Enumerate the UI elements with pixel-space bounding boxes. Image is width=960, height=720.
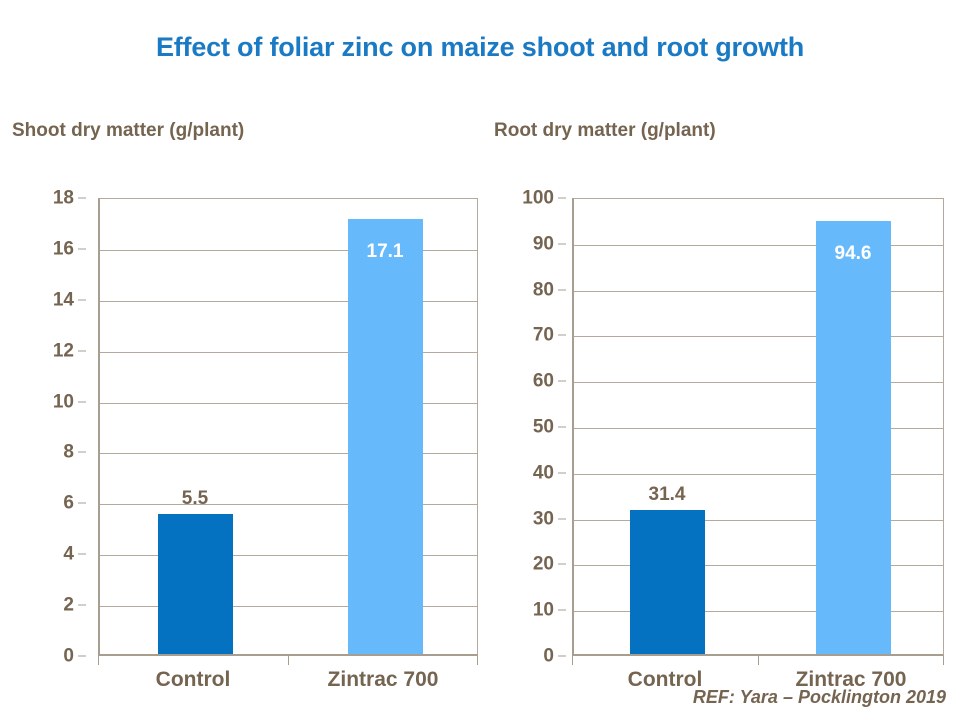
bar-control xyxy=(158,514,233,654)
x-axis-shoot: ControlZintrac 700 xyxy=(98,656,478,700)
y-tick-label: 4 xyxy=(63,545,74,564)
y-tick-mark xyxy=(78,452,86,453)
y-tick-mark xyxy=(558,381,566,382)
y-tick-mark xyxy=(78,198,86,199)
x-category-label: Control xyxy=(156,668,231,692)
y-tick-mark xyxy=(78,248,86,249)
y-tick-mark xyxy=(558,472,566,473)
y-tick-label: 18 xyxy=(53,189,74,208)
y-tick-label: 40 xyxy=(533,463,554,482)
y-tick-label: 0 xyxy=(63,647,74,666)
y-tick-mark xyxy=(78,299,86,300)
y-tick-label: 100 xyxy=(522,189,554,208)
x-tick-mark xyxy=(288,656,289,665)
x-tick-mark xyxy=(98,656,99,665)
x-tick-mark xyxy=(477,656,478,665)
x-category-label: Control xyxy=(628,668,703,692)
x-tick-mark xyxy=(758,656,759,665)
y-tick-label: 60 xyxy=(533,372,554,391)
y-tick-label: 20 xyxy=(533,555,554,574)
x-category-label: Zintrac 700 xyxy=(328,668,439,692)
chart-area-shoot: 181614121086420 5.517.1 ControlZintrac 7… xyxy=(8,148,478,683)
x-tick-mark xyxy=(943,656,944,665)
reference-note: REF: Yara – Pocklington 2019 xyxy=(693,687,946,708)
y-tick-label: 50 xyxy=(533,418,554,437)
y-tick-label: 0 xyxy=(543,647,554,666)
y-tick-mark xyxy=(78,350,86,351)
y-tick-label: 90 xyxy=(533,234,554,253)
y-tick-mark xyxy=(558,289,566,290)
y-tick-mark xyxy=(558,656,566,657)
bar-value-label: 5.5 xyxy=(158,489,233,508)
y-tick-mark xyxy=(558,198,566,199)
y-tick-label: 14 xyxy=(53,290,74,309)
y-tick-mark xyxy=(78,656,86,657)
plot-area-shoot: 5.517.1 xyxy=(98,198,478,656)
plot-area-root: 31.494.6 xyxy=(572,198,944,656)
y-tick-mark xyxy=(78,554,86,555)
y-tick-label: 30 xyxy=(533,509,554,528)
y-tick-mark xyxy=(558,427,566,428)
y-tick-mark xyxy=(558,564,566,565)
y-tick-label: 2 xyxy=(63,596,74,615)
y-tick-mark xyxy=(558,243,566,244)
y-tick-mark xyxy=(78,401,86,402)
y-axis-shoot: 181614121086420 xyxy=(26,198,86,656)
y-tick-label: 6 xyxy=(63,494,74,513)
x-tick-mark xyxy=(572,656,573,665)
y-axis-root: 1009080706050403020100 xyxy=(490,198,566,656)
y-tick-mark xyxy=(78,605,86,606)
chart-panel-root: Root dry matter (g/plant) 10090807060504… xyxy=(490,120,956,683)
bar-zintrac-700 xyxy=(816,221,891,654)
y-tick-mark xyxy=(558,518,566,519)
bar-control xyxy=(630,510,705,654)
chart-panel-shoot: Shoot dry matter (g/plant) 1816141210864… xyxy=(8,120,478,683)
bar-zintrac-700 xyxy=(348,219,423,654)
y-tick-label: 10 xyxy=(533,601,554,620)
y-tick-label: 70 xyxy=(533,326,554,345)
bar-value-label: 17.1 xyxy=(348,242,423,261)
y-tick-mark xyxy=(558,335,566,336)
y-tick-label: 10 xyxy=(53,392,74,411)
y-tick-label: 8 xyxy=(63,443,74,462)
chart-title-shoot: Shoot dry matter (g/plant) xyxy=(12,120,478,142)
y-tick-label: 12 xyxy=(53,341,74,360)
chart-area-root: 1009080706050403020100 31.494.6 ControlZ… xyxy=(490,148,956,683)
y-tick-label: 16 xyxy=(53,239,74,258)
page-title: Effect of foliar zinc on maize shoot and… xyxy=(0,32,960,63)
y-tick-mark xyxy=(78,503,86,504)
y-tick-label: 80 xyxy=(533,280,554,299)
chart-title-root: Root dry matter (g/plant) xyxy=(494,120,956,142)
bar-value-label: 94.6 xyxy=(816,244,891,263)
bar-value-label: 31.4 xyxy=(630,485,705,504)
y-tick-mark xyxy=(558,610,566,611)
